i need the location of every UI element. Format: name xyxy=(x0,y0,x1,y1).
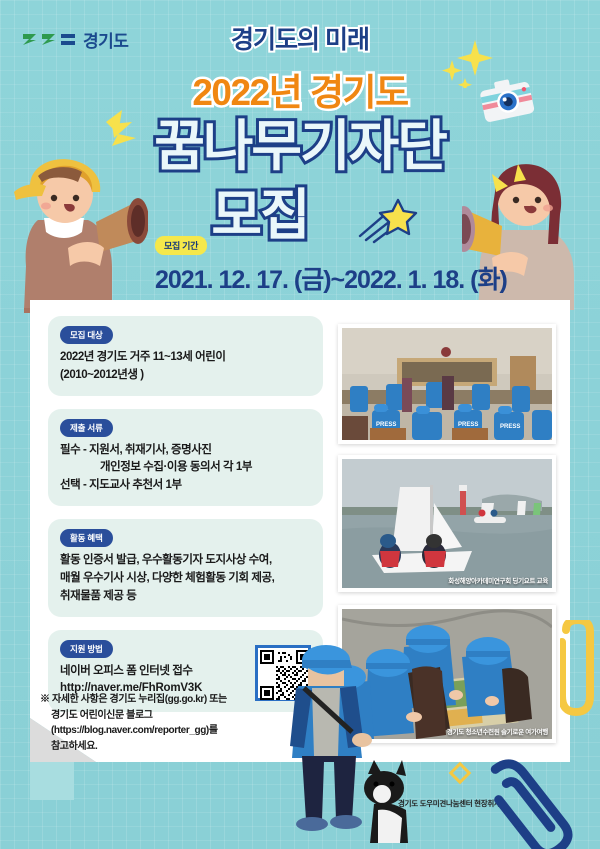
svg-text:PRESS: PRESS xyxy=(458,422,478,428)
footnote-line: (https://blog.naver.com/reporter_gg)를 xyxy=(40,723,310,739)
footnote-line: 경기도 어린이신문 블로그 xyxy=(40,708,310,724)
diamond-icon xyxy=(449,762,472,785)
section-documents: 제출 서류 필수 - 지원서, 취재기사, 증명사진 개인정보 수집·이용 동의… xyxy=(48,409,323,506)
paperclip-icon xyxy=(485,742,600,849)
section-benefits: 활동 혜택 활동 인증서 발급, 우수활동기자 도지사상 수여, 매월 우수기사… xyxy=(48,519,323,616)
info-line: 개인정보 수집·이용 동의서 각 1부 xyxy=(60,459,311,477)
headline-year: 2022년 경기도 xyxy=(0,62,600,116)
footnote: ※ 자세한 사항은 경기도 누리집(gg.go.kr) 또는 경기도 어린이신문… xyxy=(40,692,310,754)
footnote-line: 참고하세요. xyxy=(40,739,310,755)
photo-caption: 화성해양아카데미연구회 딩기요트 교육 xyxy=(448,575,548,585)
footnote-line: ※ 자세한 사항은 경기도 누리집(gg.go.kr) 또는 xyxy=(40,692,310,708)
recruitment-period: 모집 기간 2021. 12. 17. (금)~2022. 1. 18. (화) xyxy=(155,236,507,296)
svg-text:PRESS: PRESS xyxy=(376,422,396,428)
period-badge: 모집 기간 xyxy=(155,236,207,255)
paperclip-icon xyxy=(560,620,600,740)
teal-accent-block xyxy=(30,762,74,800)
info-line: 선택 - 지도교사 추천서 1부 xyxy=(60,477,311,495)
info-line: (2010~2012년생 ) xyxy=(60,367,311,385)
section-tag: 제출 서류 xyxy=(60,419,113,437)
info-line: 필수 - 지원서, 취재기사, 증명사진 xyxy=(60,442,311,460)
press-room-photo: PRESSPRESSPRESS xyxy=(338,324,556,444)
apply-method: 네이버 오피스 폼 인터넷 접수 xyxy=(60,663,202,681)
section-tag: 활동 혜택 xyxy=(60,529,113,547)
section-tag: 지원 방법 xyxy=(60,640,113,658)
info-line: 매월 우수기사 시상, 다양한 체험활동 기회 제공, xyxy=(60,570,311,588)
period-date: 2021. 12. 17. (금)~2022. 1. 18. (화) xyxy=(155,260,507,296)
section-tag: 모집 대상 xyxy=(60,326,113,344)
boy-with-dog-photo xyxy=(278,628,408,843)
svg-text:PRESS: PRESS xyxy=(500,424,520,430)
poster-canvas: 경기도 경기도의 미래 2022년 경기도 꿈나무기자단 모집 xyxy=(0,0,600,849)
headline-subtitle: 경기도의 미래 xyxy=(231,20,369,56)
info-line: 취재물품 제공 등 xyxy=(60,588,311,606)
photo-caption: 경기도 청소년수련원 슬기로운 여가여행 xyxy=(447,726,548,736)
info-line: 활동 인증서 발급, 우수활동기자 도지사상 수여, xyxy=(60,552,311,570)
boy-with-megaphone-illustration xyxy=(8,148,148,313)
sailing-photo: 화성해양아카데미연구회 딩기요트 교육 xyxy=(338,455,556,592)
section-target: 모집 대상 2022년 경기도 거주 11~13세 어린이 (2010~2012… xyxy=(48,316,323,396)
info-line: 2022년 경기도 거주 11~13세 어린이 xyxy=(60,349,311,367)
